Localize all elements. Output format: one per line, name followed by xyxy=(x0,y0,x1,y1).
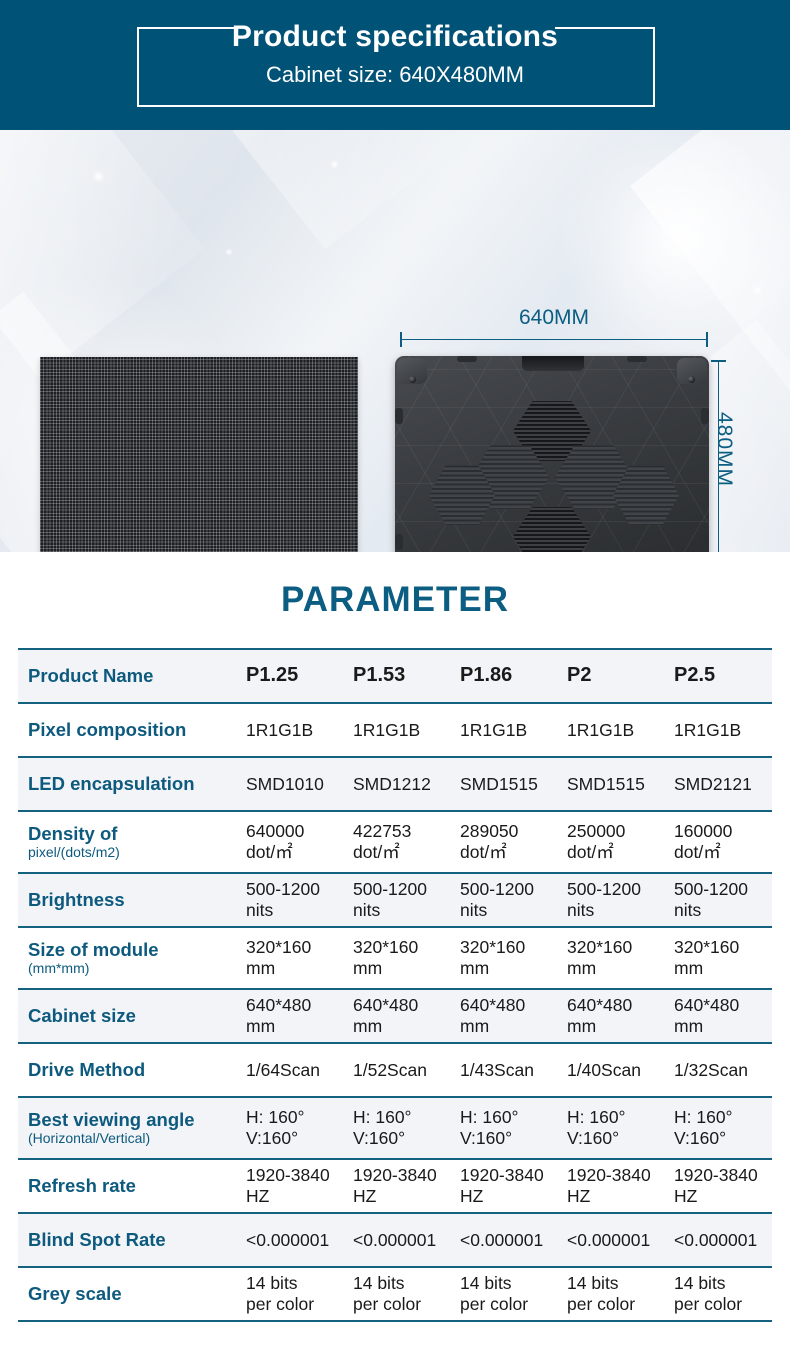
table-cell: P1.86 xyxy=(460,664,567,688)
table-cell-line2: per color xyxy=(460,1294,563,1315)
row-label: Drive Method xyxy=(18,1060,246,1080)
table-cell: 14 bitsper color xyxy=(674,1273,781,1314)
table-cell-line2: per color xyxy=(674,1294,777,1315)
table-cell: 500-1200nits xyxy=(246,879,353,920)
table-cell-line2: mm xyxy=(567,1016,670,1037)
table-cell: <0.000001 xyxy=(567,1230,674,1251)
height-dimension-label: 480MM xyxy=(712,412,736,487)
table-cell: 640*480mm xyxy=(353,995,460,1036)
table-cell: 320*160mm xyxy=(460,937,567,978)
table-cell: SMD1515 xyxy=(460,774,567,795)
table-cell: 14 bitsper color xyxy=(246,1273,353,1314)
screw-icon xyxy=(409,376,416,383)
table-cell-line2: HZ xyxy=(353,1186,456,1207)
row-label: LED encapsulation xyxy=(18,774,246,794)
table-cell: 1R1G1B xyxy=(460,720,567,741)
table-cell: 1/64Scan xyxy=(246,1060,353,1081)
table-cell: 1920-3840HZ xyxy=(674,1165,781,1206)
row-label: Size of module(mm*mm) xyxy=(18,940,246,977)
bokeh-dot xyxy=(752,285,763,296)
table-cell-line2: dot/㎡ xyxy=(460,842,563,863)
table-row: Size of module(mm*mm)320*160mm320*160mm3… xyxy=(18,928,772,990)
table-cell: P1.53 xyxy=(353,664,460,688)
cabinet-body xyxy=(395,356,709,552)
product-spec-page: Product specifications Cabinet size: 640… xyxy=(0,0,790,1365)
bg-shard xyxy=(233,130,467,250)
table-cell: 500-1200nits xyxy=(674,879,781,920)
table-cell: P2 xyxy=(567,664,674,688)
table-cell-line2: mm xyxy=(246,958,349,979)
table-cell-line2: dot/㎡ xyxy=(674,842,777,863)
table-cell: 640*480mm xyxy=(567,995,674,1036)
table-row: Blind Spot Rate<0.000001<0.000001<0.0000… xyxy=(18,1214,772,1268)
table-cell: 320*160mm xyxy=(567,937,674,978)
row-sublabel: pixel/(dots/m2) xyxy=(28,845,246,860)
edge-tab xyxy=(701,408,709,424)
table-cell-line2: V:160° xyxy=(460,1128,563,1149)
parameter-table: Product NameP1.25P1.53P1.86P2P2.5Pixel c… xyxy=(18,648,772,1322)
row-sublabel: (Horizontal/Vertical) xyxy=(28,1131,246,1146)
table-cell: <0.000001 xyxy=(674,1230,781,1251)
table-cell: SMD2121 xyxy=(674,774,781,795)
table-cell: H: 160°V:160° xyxy=(246,1107,353,1148)
table-cell-line2: per color xyxy=(353,1294,456,1315)
table-cell: 500-1200nits xyxy=(460,879,567,920)
table-cell-line2: HZ xyxy=(460,1186,563,1207)
table-cell-line2: mm xyxy=(353,1016,456,1037)
table-cell: 640*480mm xyxy=(246,995,353,1036)
table-cell: 640*480mm xyxy=(674,995,781,1036)
table-cell: 1R1G1B xyxy=(353,720,460,741)
table-cell-line2: HZ xyxy=(674,1186,777,1207)
page-title: Product specifications xyxy=(0,20,790,54)
row-label: Pixel composition xyxy=(18,720,246,740)
table-cell-line2: V:160° xyxy=(353,1128,456,1149)
table-row: LED encapsulationSMD1010SMD1212SMD1515SM… xyxy=(18,758,772,812)
table-cell-line2: mm xyxy=(460,1016,563,1037)
table-cell: 1/43Scan xyxy=(460,1060,567,1081)
table-cell: 289050dot/㎡ xyxy=(460,821,567,862)
row-sublabel: (mm*mm) xyxy=(28,961,246,976)
table-cell: <0.000001 xyxy=(460,1230,567,1251)
table-cell: 640000dot/㎡ xyxy=(246,821,353,862)
table-cell: 500-1200nits xyxy=(353,879,460,920)
product-showcase: 640MM 480MM front back xyxy=(0,130,790,552)
table-cell-line2: V:160° xyxy=(567,1128,670,1149)
table-cell: 14 bitsper color xyxy=(460,1273,567,1314)
table-cell: 1/40Scan xyxy=(567,1060,674,1081)
table-cell: 250000dot/㎡ xyxy=(567,821,674,862)
row-label: Cabinet size xyxy=(18,1006,246,1026)
table-cell-line2: per color xyxy=(567,1294,670,1315)
table-cell-line2: nits xyxy=(674,900,777,921)
front-led-panel-image xyxy=(40,357,358,552)
row-label: Refresh rate xyxy=(18,1176,246,1196)
table-cell-line2: V:160° xyxy=(246,1128,349,1149)
table-cell: P1.25 xyxy=(246,664,353,688)
table-cell-line2: per color xyxy=(246,1294,349,1315)
bokeh-dot xyxy=(225,248,233,256)
edge-tab xyxy=(457,356,477,362)
table-cell: 320*160mm xyxy=(674,937,781,978)
table-cell: 1920-3840HZ xyxy=(246,1165,353,1206)
table-row: Refresh rate1920-3840HZ1920-3840HZ1920-3… xyxy=(18,1160,772,1214)
page-subtitle: Cabinet size: 640X480MM xyxy=(0,62,790,88)
table-row: Grey scale14 bitsper color14 bitsper col… xyxy=(18,1268,772,1322)
handle-notch xyxy=(522,356,584,371)
table-cell-line2: mm xyxy=(674,1016,777,1037)
table-cell: 1R1G1B xyxy=(674,720,781,741)
bokeh-dot xyxy=(92,170,105,183)
table-cell: 160000dot/㎡ xyxy=(674,821,781,862)
screw-icon xyxy=(688,376,695,383)
table-row: Best viewing angle(Horizontal/Vertical)H… xyxy=(18,1098,772,1160)
table-cell: <0.000001 xyxy=(246,1230,353,1251)
table-cell-line2: nits xyxy=(246,900,349,921)
width-dimension-line xyxy=(400,339,708,340)
table-cell: 1/52Scan xyxy=(353,1060,460,1081)
edge-tab xyxy=(627,356,647,362)
table-cell: SMD1010 xyxy=(246,774,353,795)
table-cell-line2: nits xyxy=(353,900,456,921)
row-label: Product Name xyxy=(18,666,246,686)
table-row: Pixel composition1R1G1B1R1G1B1R1G1B1R1G1… xyxy=(18,704,772,758)
table-cell: 500-1200nits xyxy=(567,879,674,920)
table-cell-line2: mm xyxy=(674,958,777,979)
table-cell: 1920-3840HZ xyxy=(460,1165,567,1206)
table-row: Product NameP1.25P1.53P1.86P2P2.5 xyxy=(18,650,772,704)
table-cell: 14 bitsper color xyxy=(567,1273,674,1314)
parameter-section-title: PARAMETER xyxy=(0,580,790,620)
table-cell: 1920-3840HZ xyxy=(353,1165,460,1206)
table-cell: H: 160°V:160° xyxy=(567,1107,674,1148)
table-cell: 1R1G1B xyxy=(246,720,353,741)
header-banner: Product specifications Cabinet size: 640… xyxy=(0,0,790,130)
row-label: Grey scale xyxy=(18,1284,246,1304)
width-dimension-label: 640MM xyxy=(400,306,708,330)
table-cell-line2: mm xyxy=(460,958,563,979)
table-cell-line2: HZ xyxy=(567,1186,670,1207)
table-cell: SMD1515 xyxy=(567,774,674,795)
edge-tab xyxy=(701,534,709,550)
bokeh-dot xyxy=(330,160,339,169)
table-cell: H: 160°V:160° xyxy=(674,1107,781,1148)
table-cell: H: 160°V:160° xyxy=(460,1107,567,1148)
table-cell: 14 bitsper color xyxy=(353,1273,460,1314)
table-row: Brightness500-1200nits500-1200nits500-12… xyxy=(18,874,772,928)
table-cell: 1/32Scan xyxy=(674,1060,781,1081)
edge-tab xyxy=(395,408,403,424)
table-cell: P2.5 xyxy=(674,664,781,688)
table-row: Cabinet size640*480mm640*480mm640*480mm6… xyxy=(18,990,772,1044)
table-cell-line2: dot/㎡ xyxy=(246,842,349,863)
edge-tab xyxy=(395,534,403,550)
table-cell-line2: dot/㎡ xyxy=(353,842,456,863)
table-cell: 640*480mm xyxy=(460,995,567,1036)
table-row: Density ofpixel/(dots/m2)640000dot/㎡4227… xyxy=(18,812,772,874)
table-cell: 320*160mm xyxy=(246,937,353,978)
row-label: Brightness xyxy=(18,890,246,910)
table-row: Drive Method1/64Scan1/52Scan1/43Scan1/40… xyxy=(18,1044,772,1098)
row-label: Blind Spot Rate xyxy=(18,1230,246,1250)
table-cell-line2: mm xyxy=(353,958,456,979)
table-cell: 1R1G1B xyxy=(567,720,674,741)
row-label: Best viewing angle(Horizontal/Vertical) xyxy=(18,1110,246,1147)
table-cell: 320*160mm xyxy=(353,937,460,978)
table-cell: <0.000001 xyxy=(353,1230,460,1251)
table-cell-line2: nits xyxy=(460,900,563,921)
table-cell-line2: V:160° xyxy=(674,1128,777,1149)
table-cell-line2: dot/㎡ xyxy=(567,842,670,863)
table-cell: 422753dot/㎡ xyxy=(353,821,460,862)
table-cell-line2: HZ xyxy=(246,1186,349,1207)
table-cell: H: 160°V:160° xyxy=(353,1107,460,1148)
table-cell: 1920-3840HZ xyxy=(567,1165,674,1206)
table-cell-line2: nits xyxy=(567,900,670,921)
table-cell: SMD1212 xyxy=(353,774,460,795)
row-label: Density ofpixel/(dots/m2) xyxy=(18,824,246,861)
table-cell-line2: mm xyxy=(567,958,670,979)
back-cabinet-image xyxy=(395,356,709,552)
table-cell-line2: mm xyxy=(246,1016,349,1037)
